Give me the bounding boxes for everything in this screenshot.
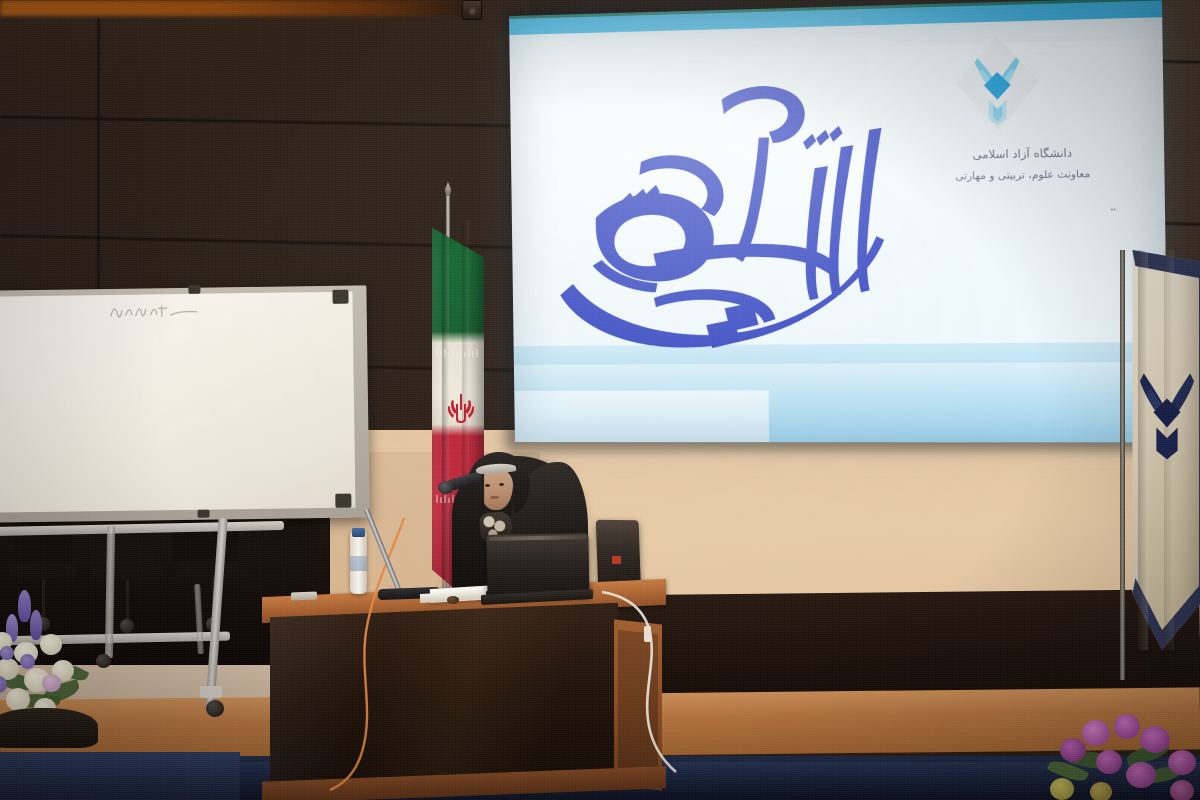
rose	[40, 634, 62, 655]
ceiling-light-glow	[0, 0, 480, 16]
whiteboard-corner	[335, 494, 351, 508]
chair-accent	[612, 556, 621, 564]
eye	[485, 484, 490, 487]
purple-flower	[20, 654, 35, 669]
flag-kufic-band	[434, 346, 482, 358]
slide-corner-mark: ••	[1111, 207, 1116, 214]
chair-seat	[92, 563, 162, 579]
desk-front-reflection	[270, 603, 618, 788]
power-cable	[600, 590, 680, 780]
magenta-flower	[1060, 738, 1086, 762]
magenta-flower	[1114, 714, 1140, 739]
whiteboard-caster-mount	[200, 686, 222, 698]
whiteboard-surface	[0, 292, 355, 513]
projection-screen: دانشگاه آزاد اسلامی معاونت علوم، تربیتی …	[509, 0, 1168, 442]
magenta-flower	[1096, 750, 1122, 774]
water-bottle-label	[350, 556, 367, 571]
azad-university-flag	[1118, 250, 1200, 680]
mouth	[490, 496, 499, 499]
yellow-flower	[1050, 778, 1074, 800]
small-device-on-desk	[291, 592, 317, 601]
yellow-flower	[1090, 782, 1112, 800]
chair-seat	[10, 563, 76, 579]
whiteboard-writing	[107, 301, 227, 321]
whiteboard-clip	[188, 285, 200, 294]
conference-hall-photo: دانشگاه آزاد اسلامی معاونت علوم، تربیتی …	[0, 0, 1200, 800]
ceiling-sensor-icon	[462, 0, 482, 20]
flower-arrangement-right	[1030, 706, 1200, 800]
laptop-lid	[486, 533, 589, 597]
whiteboard	[0, 285, 370, 522]
whiteboard-clip	[197, 510, 209, 518]
slide-organization-text: دانشگاه آزاد اسلامی معاونت علوم، تربیتی …	[896, 144, 1151, 183]
desk-knob	[447, 596, 459, 604]
pink-flower	[42, 674, 61, 692]
flower-arrangement-left	[0, 588, 116, 748]
magenta-flower	[1170, 780, 1194, 800]
microphone-capsule	[438, 481, 454, 494]
flagpole	[1120, 250, 1125, 680]
foreground-blue-strip-left	[0, 752, 240, 800]
water-bottle-cap	[352, 528, 365, 537]
whiteboard-caster	[206, 700, 224, 717]
chair-leg	[126, 579, 129, 623]
azad-university-logo-icon	[934, 31, 1062, 135]
flower-basket	[0, 708, 98, 748]
flower-spike	[18, 590, 31, 622]
magenta-flower	[1168, 750, 1196, 775]
chair-seat	[176, 561, 248, 577]
purple-flower	[0, 646, 14, 660]
azad-flag-emblem-icon	[1138, 356, 1196, 460]
flower-spike	[30, 610, 42, 640]
magenta-flower	[1140, 726, 1170, 753]
eye	[499, 483, 504, 486]
iran-flag-emblem-icon	[448, 392, 474, 424]
magenta-flower	[1126, 762, 1156, 788]
whiteboard-corner	[332, 290, 348, 304]
basmala-calligraphy-icon	[541, 31, 920, 400]
chair-caster	[120, 619, 134, 633]
magenta-flower	[1082, 720, 1110, 746]
